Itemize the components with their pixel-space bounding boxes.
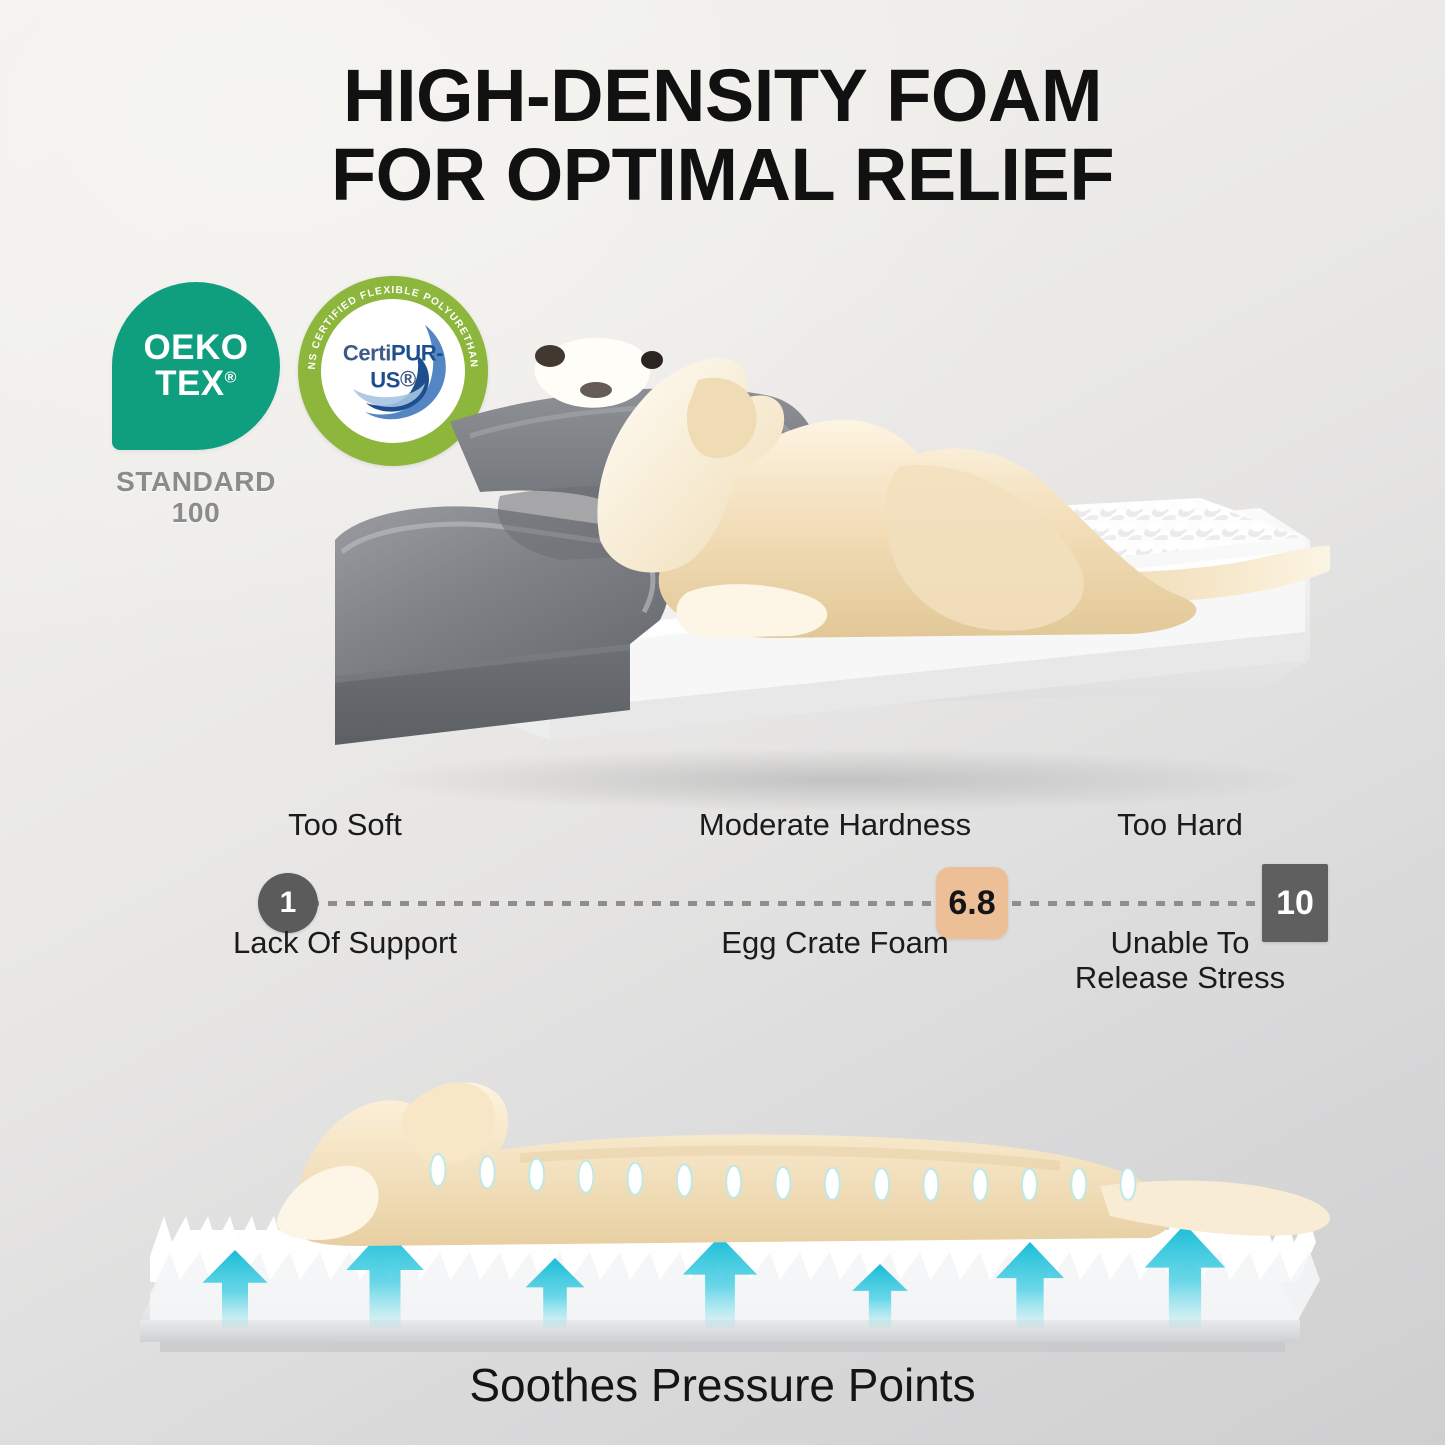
- scale-caption-right-line-1: Unable To: [1030, 926, 1330, 961]
- oeko-registered-mark: ®: [225, 369, 237, 386]
- scale-dashed-segment-left: [310, 901, 940, 906]
- oeko-standard-caption: STANDARD 100: [96, 466, 296, 529]
- dog-eye: [641, 351, 663, 369]
- scale-marker-low[interactable]: 1: [258, 873, 318, 933]
- dog-mouth: [580, 382, 612, 398]
- scale-caption-egg-crate-foam: Egg Crate Foam: [655, 926, 1015, 961]
- pressure-point-dot: [628, 1163, 643, 1195]
- dog-on-bed-illustration: [300, 240, 1330, 810]
- dog-nose: [535, 345, 565, 367]
- hardness-scale: Too Soft Moderate Hardness Too Hard 1 6.…: [150, 808, 1310, 998]
- pressure-point-dot: [825, 1168, 840, 1200]
- infographic-root: HIGH-DENSITY FOAM FOR OPTIMAL RELIEF OEK…: [0, 0, 1445, 1445]
- sleeping-dog-on-foam-illustration: [0, 990, 1445, 1370]
- headline-line-2: FOR OPTIMAL RELIEF: [0, 139, 1445, 212]
- oeko-tex-droplet-icon: OEKO TEX®: [112, 282, 280, 450]
- headline-line-1: HIGH-DENSITY FOAM: [343, 54, 1102, 137]
- pressure-point-dot: [1121, 1168, 1136, 1200]
- pressure-point-dot: [874, 1168, 889, 1200]
- scene-caption: Soothes Pressure Points: [0, 1358, 1445, 1412]
- pressure-point-scene: [0, 990, 1445, 1370]
- oeko-label-line-2: TEX®: [155, 366, 237, 402]
- scale-caption-lack-of-support: Lack Of Support: [190, 926, 500, 961]
- scale-dashed-segment-right: [1012, 901, 1264, 906]
- scale-track: 1 6.8 10: [150, 876, 1310, 930]
- pressure-point-dot: [529, 1159, 544, 1191]
- oeko-label-line-1: OEKO: [143, 330, 248, 366]
- pressure-point-dot: [578, 1161, 593, 1193]
- pressure-point-dot: [776, 1167, 791, 1199]
- pressure-point-dot: [677, 1164, 692, 1196]
- pressure-point-dot: [1071, 1168, 1086, 1200]
- pressure-point-dot: [726, 1166, 741, 1198]
- oeko-standard-line-1: STANDARD: [96, 466, 296, 497]
- pressure-point-dot: [480, 1156, 495, 1188]
- scale-label-too-hard: Too Hard: [1030, 808, 1330, 843]
- oeko-standard-line-2: 100: [96, 497, 296, 528]
- pressure-point-dot: [973, 1169, 988, 1201]
- pressure-point-dot: [1022, 1169, 1037, 1201]
- hero-product-photo: [300, 240, 1330, 810]
- scale-caption-unable-to-release-stress: Unable To Release Stress: [1030, 926, 1330, 995]
- oeko-tex-badge: OEKO TEX® STANDARD 100: [96, 282, 296, 529]
- page-title: HIGH-DENSITY FOAM FOR OPTIMAL RELIEF: [0, 60, 1445, 211]
- pressure-point-dot: [923, 1169, 938, 1201]
- pressure-point-dot: [431, 1154, 446, 1186]
- oeko-tex-text: TEX: [155, 364, 225, 403]
- scale-label-moderate-hardness: Moderate Hardness: [655, 808, 1015, 843]
- scale-label-too-soft: Too Soft: [190, 808, 500, 843]
